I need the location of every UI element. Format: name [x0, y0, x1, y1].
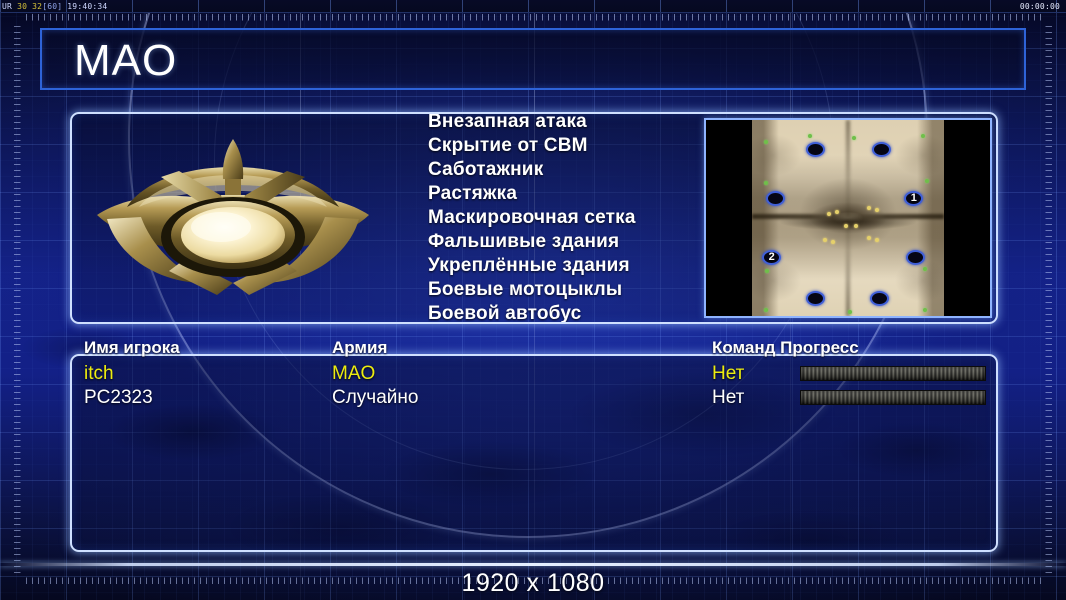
- map-resource-gold: [823, 238, 827, 242]
- ability-item: Боевые мотоцыклы: [428, 278, 696, 302]
- ruler-left: [14, 26, 26, 576]
- map-resource-gold: [875, 238, 879, 242]
- map-resource-green: [764, 181, 768, 185]
- player-army[interactable]: MAO: [332, 362, 375, 386]
- status-bar-grid: [0, 0, 1066, 12]
- column-header-team: Команд Прогресс: [712, 338, 859, 358]
- player-name: itch: [84, 362, 114, 386]
- map-resource-green: [852, 136, 856, 140]
- ability-item: Растяжка: [428, 182, 696, 206]
- status-bar-right-time: 00:00:00: [1020, 0, 1060, 13]
- ability-item: Боевой автобус: [428, 302, 696, 322]
- ruler-top: [26, 14, 1044, 26]
- player-progress-bar: [800, 366, 986, 381]
- map-image: 12: [752, 120, 944, 316]
- map-resource-green: [923, 308, 927, 312]
- game-lobby-screen: UR 30 32[60] 19:40:34 00:00:00 MAO: [0, 0, 1066, 600]
- map-resource-gold: [854, 224, 858, 228]
- player-progress-bar: [800, 390, 986, 405]
- table-row[interactable]: itchMAOНет: [84, 362, 996, 386]
- header-frame: [40, 28, 1026, 90]
- page-title: MAO: [74, 36, 177, 86]
- map-preview[interactable]: 12: [704, 118, 992, 318]
- resolution-label: 1920 x 1080: [0, 569, 1066, 598]
- status-bar-left: UR 30 32[60] 19:40:34: [0, 0, 107, 13]
- ability-item: Внезапная атака: [428, 114, 696, 134]
- faction-emblem: [78, 128, 388, 313]
- player-name: PC2323: [84, 386, 153, 410]
- map-resource-green: [923, 267, 927, 271]
- player-army[interactable]: Случайно: [332, 386, 418, 410]
- player-team[interactable]: Нет: [712, 362, 744, 386]
- map-resource-gold: [867, 236, 871, 240]
- map-road: [846, 120, 850, 316]
- status-value-2: 32: [32, 2, 42, 11]
- map-resource-gold: [827, 212, 831, 216]
- status-bar: UR 30 32[60] 19:40:34 00:00:00: [0, 0, 1066, 13]
- map-resource-green: [764, 140, 768, 144]
- map-resource-green: [921, 134, 925, 138]
- map-resource-gold: [831, 240, 835, 244]
- footer-divider: [0, 563, 1066, 566]
- status-value-1: 30: [17, 2, 27, 11]
- player-roster-rows: itchMAOНетPC2323СлучайноНет: [84, 362, 996, 410]
- status-clock: 19:40:34: [62, 2, 107, 11]
- status-fps: [60]: [42, 2, 62, 11]
- map-resource-green: [925, 179, 929, 183]
- map-resource-green: [808, 134, 812, 138]
- player-team[interactable]: Нет: [712, 386, 744, 410]
- status-prefix: UR: [2, 2, 17, 11]
- faction-abilities-list: Внезапная атакаСкрытие от СВМСаботажникР…: [428, 114, 696, 322]
- column-header-army: Армия: [332, 338, 387, 358]
- gla-faction-emblem-icon: [83, 131, 383, 311]
- ability-item: Укреплённые здания: [428, 254, 696, 278]
- ruler-right: [1040, 26, 1052, 576]
- table-row[interactable]: PC2323СлучайноНет: [84, 386, 996, 410]
- ability-item: Маскировочная сетка: [428, 206, 696, 230]
- map-resource-gold: [835, 210, 839, 214]
- ability-item: Скрытие от СВМ: [428, 134, 696, 158]
- ability-item: Саботажник: [428, 158, 696, 182]
- column-header-player: Имя игрока: [84, 338, 180, 358]
- ability-item: Фальшивые здания: [428, 230, 696, 254]
- map-resource-green: [764, 308, 768, 312]
- map-resource-gold: [844, 224, 848, 228]
- roster-column-headers: Имя игрока Армия Команд Прогресс: [84, 338, 996, 360]
